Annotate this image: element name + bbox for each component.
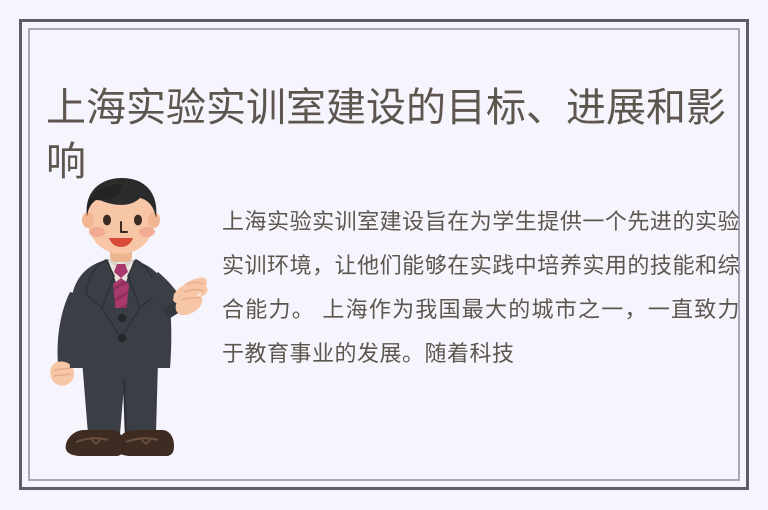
businessman-icon <box>46 172 212 472</box>
article-body-text: 上海实验实训室建设旨在为学生提供一个先进的实验实训环境，让他们能够在实践中培养实… <box>222 200 740 376</box>
businessman-presenting-illustration <box>46 172 212 472</box>
article-card-page: 上海实验实训室建设的目标、进展和影响 <box>0 0 768 510</box>
article-content: 上海实验实训室建设旨在为学生提供一个先进的实验实训环境，让他们能够在实践中培养实… <box>46 172 740 472</box>
